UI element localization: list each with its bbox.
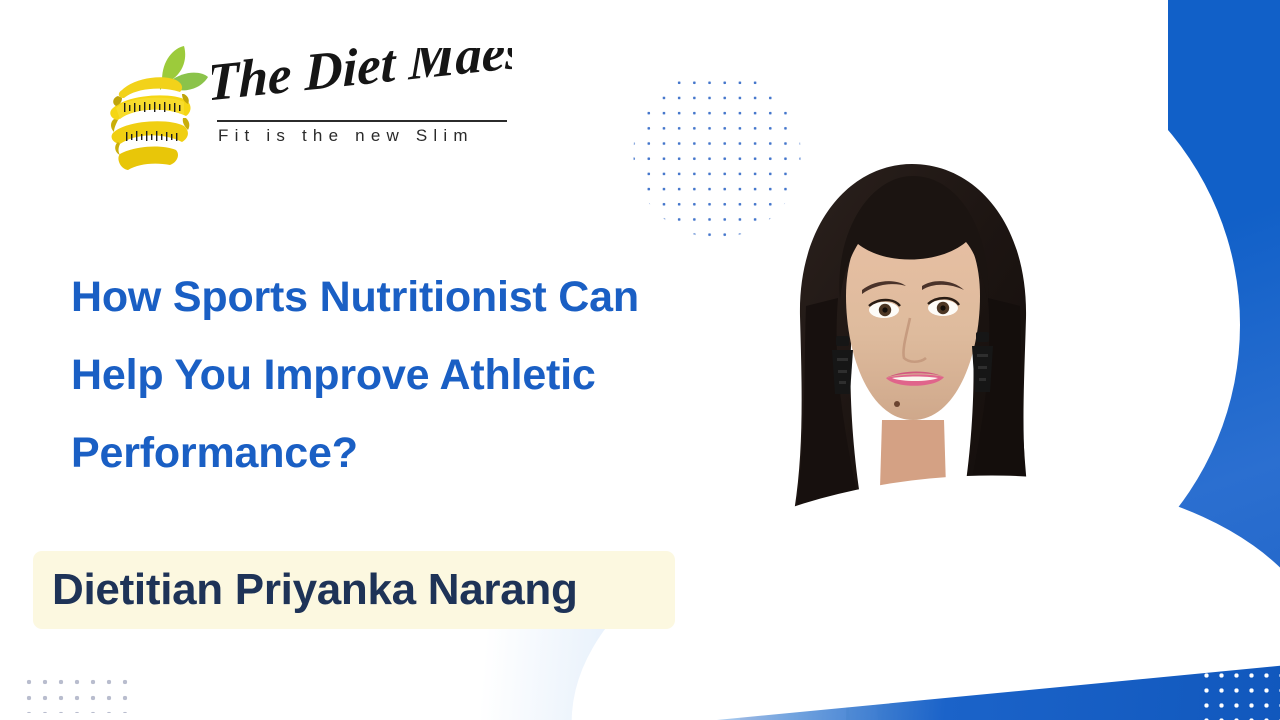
headline-line-3: Performance?: [71, 414, 731, 492]
brand-logo[interactable]: The Diet Maestro Fit is the new Slim: [100, 42, 510, 162]
presenter-name-banner: Dietitian Priyanka Narang: [33, 551, 675, 629]
brand-logo-text: The Diet Maestro Fit is the new Slim: [212, 42, 512, 167]
gray-dot-grid-pattern: [18, 671, 133, 713]
presenter-name: Dietitian Priyanka Narang: [33, 568, 578, 612]
logo-divider-rule: [217, 120, 507, 122]
thumbnail-canvas: The Diet Maestro Fit is the new Slim How…: [0, 0, 1280, 720]
brand-wordmark: The Diet Maestro: [212, 48, 512, 120]
headline-line-2: Help You Improve Athletic: [71, 336, 731, 414]
page-title: How Sports Nutritionist Can Help You Imp…: [71, 258, 731, 492]
brand-tagline: Fit is the new Slim: [218, 126, 512, 146]
headline-line-1: How Sports Nutritionist Can: [71, 258, 731, 336]
lemon-measuring-tape-logo-icon: [100, 46, 210, 171]
svg-text:The Diet Maestro: The Diet Maestro: [212, 48, 512, 113]
